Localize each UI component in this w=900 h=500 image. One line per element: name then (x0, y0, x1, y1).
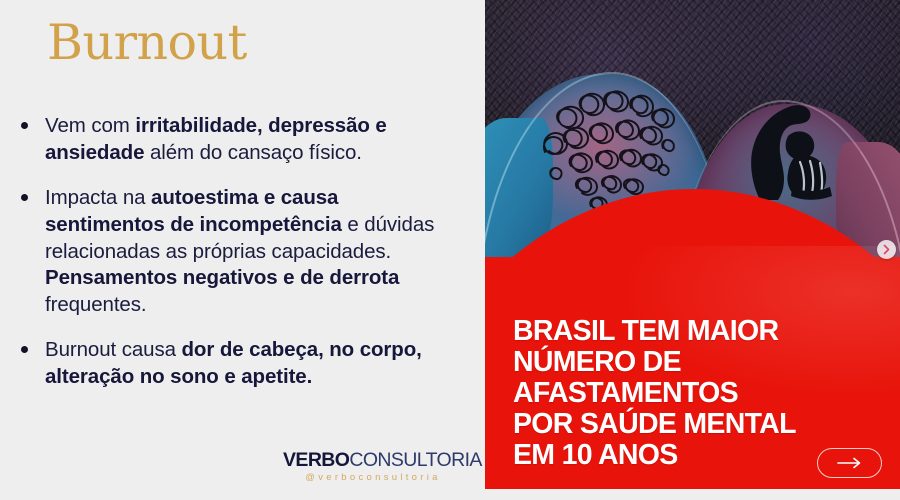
page-title: Burnout (47, 18, 247, 67)
instagram-post-card[interactable]: BRASIL TEM MAIOR NÚMERO DE AFASTAMENTOS … (485, 0, 900, 489)
next-slide-button[interactable] (877, 240, 896, 259)
headline-line: BRASIL TEM MAIOR (513, 316, 873, 347)
list-item: Vem com irritabilidade, depressão e ansi… (14, 113, 454, 166)
logo-wordmark: VERBOCONSULTORIA (283, 450, 463, 470)
slide-canvas: Burnout Vem com irritabilidade, depressã… (0, 0, 900, 500)
bullet-text: Vem com irritabilidade, depressão e ansi… (45, 113, 454, 166)
bullet-text: Burnout causa dor de cabeça, no corpo, a… (45, 337, 454, 390)
cta-arrow-button[interactable] (817, 448, 882, 478)
slide-content-pane: Burnout Vem com irritabilidade, depressã… (0, 0, 485, 500)
list-item: Burnout causa dor de cabeça, no corpo, a… (14, 337, 454, 390)
logo-word-primary: VERBO (283, 449, 349, 471)
chevron-right-icon (882, 244, 891, 255)
headline-line: POR SAÚDE MENTAL (513, 409, 873, 440)
bullet-dot-icon (21, 122, 28, 129)
bullet-dot-icon (21, 346, 28, 353)
bullet-dot-icon (21, 194, 28, 201)
brand-logo: VERBOCONSULTORIA @verboconsultoria (283, 450, 463, 483)
headline-line: NÚMERO DE (513, 347, 873, 378)
logo-social-handle: @verboconsultoria (283, 472, 463, 483)
list-item: Impacta na autoestima e causa sentimento… (14, 185, 454, 318)
crouched-figure-silhouette-icon (744, 96, 864, 204)
arrow-right-icon (837, 457, 863, 469)
headline-line: AFASTAMENTOS (513, 378, 873, 409)
bullet-text: Impacta na autoestima e causa sentimento… (45, 185, 454, 318)
bullet-list: Vem com irritabilidade, depressão e ansi… (14, 113, 454, 410)
logo-word-secondary: CONSULTORIA (349, 449, 481, 471)
post-headline: BRASIL TEM MAIOR NÚMERO DE AFASTAMENTOS … (513, 316, 873, 471)
